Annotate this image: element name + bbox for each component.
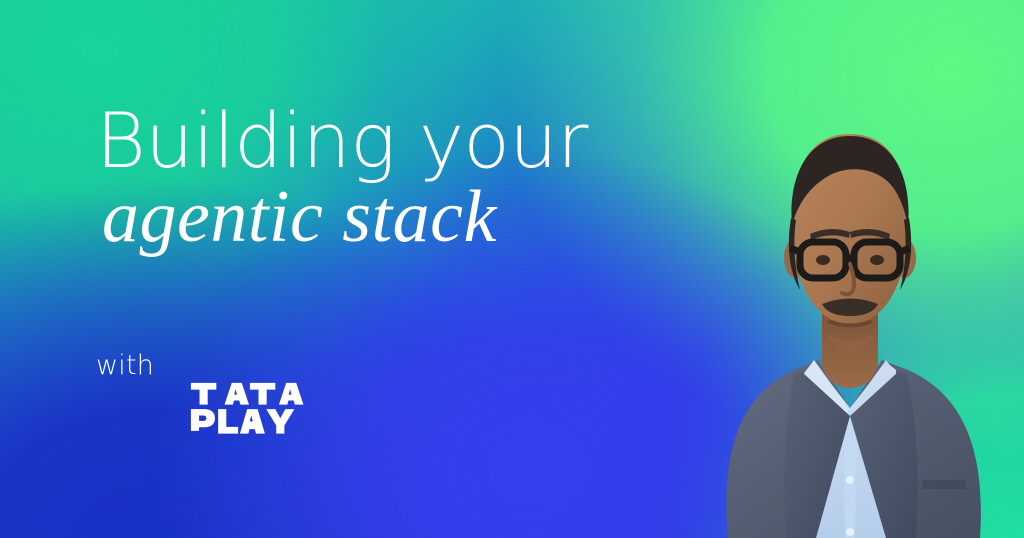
speaker-portrait: [690, 108, 1010, 538]
tata-play-logo: [190, 381, 370, 435]
promo-banner: Building your agentic stack with: [0, 0, 1024, 538]
headline-line-secondary: agentic stack: [102, 180, 716, 255]
headline-line-primary: Building your: [96, 104, 716, 178]
with-label: with: [96, 350, 154, 381]
headline: Building your agentic stack: [96, 104, 716, 256]
